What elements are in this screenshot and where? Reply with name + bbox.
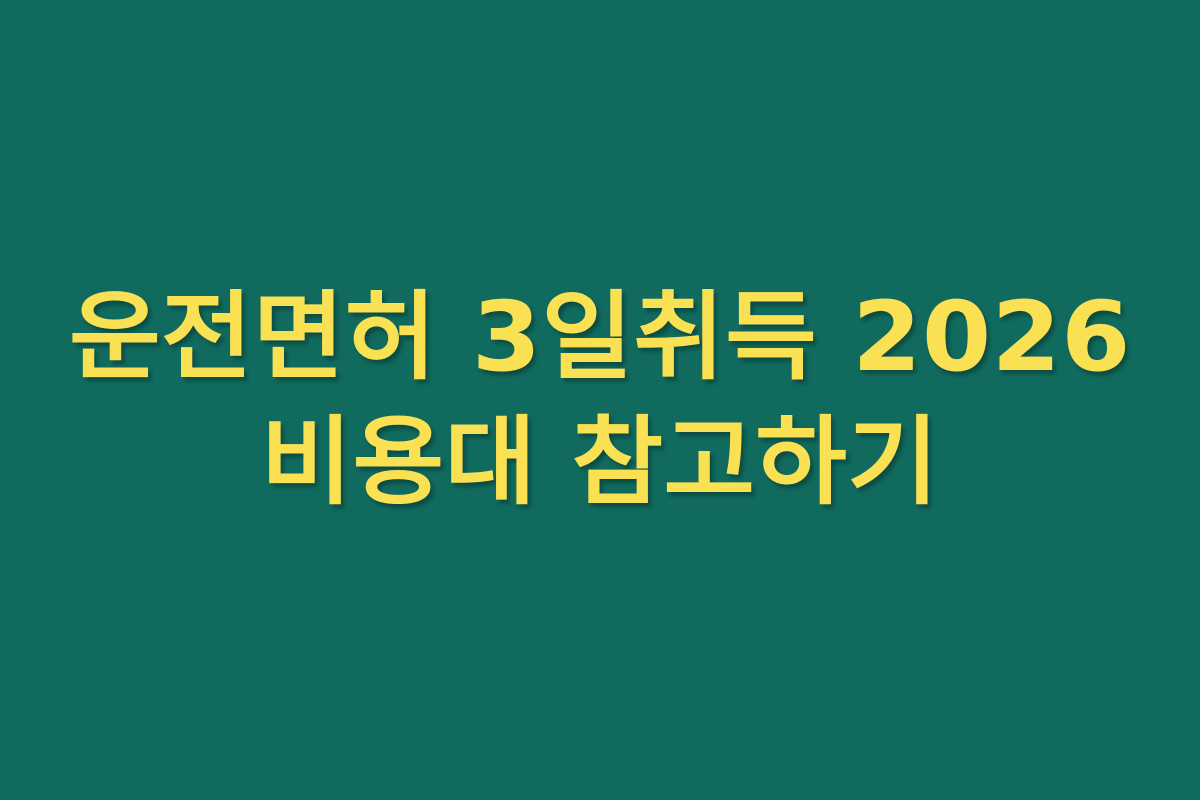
- headline-block: 운전면허 3일취득 2026 비용대 참고하기: [0, 0, 1200, 800]
- headline-line-1: 운전면허 3일취득 2026: [10, 275, 1190, 400]
- headline-line-2: 비용대 참고하기: [10, 400, 1190, 525]
- banner-background: 운전면허 3일취득 2026 비용대 참고하기: [0, 0, 1200, 800]
